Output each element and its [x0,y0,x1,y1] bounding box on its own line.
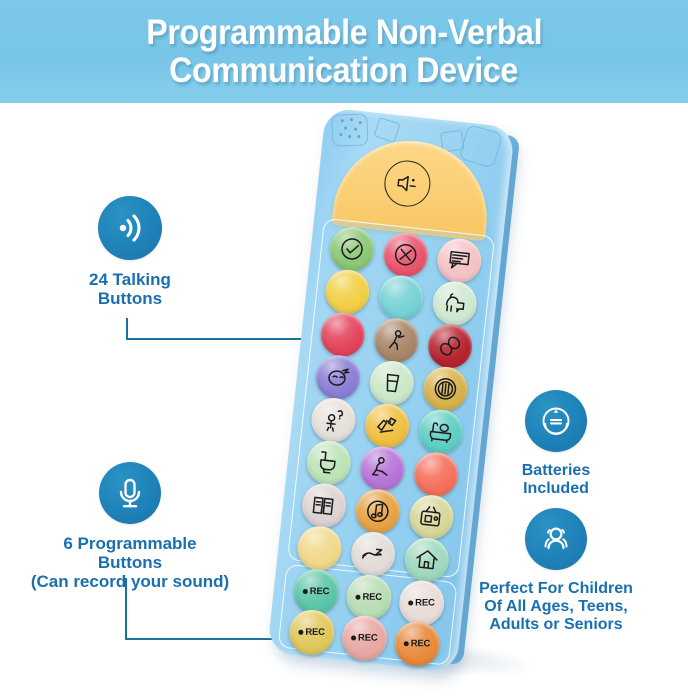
record-dot-icon [299,630,304,635]
talking-button[interactable] [435,236,483,284]
record-button-label: REC [310,586,330,597]
record-button-label: REC [411,638,431,649]
open-book-icon [309,490,340,521]
header-banner: Programmable Non-Verbal Communication De… [0,0,688,103]
callout-programmable-buttons: 6 Programmable Buttons (Can record your … [10,462,250,591]
callout-audience-line-1: Perfect For Children [479,580,633,597]
talking-button[interactable] [363,401,411,449]
callout-programmable-label: 6 Programmable Buttons (Can record your … [31,534,229,591]
talking-button[interactable] [358,444,406,492]
drinking-glass-icon [376,367,407,398]
connector-horizontal-segment [126,338,308,340]
speaker-volume-icon [393,171,421,196]
talking-button[interactable] [328,224,376,272]
callout-audience-line-3: Adults or Seniors [489,616,622,633]
celebration-icon [372,410,403,441]
title-line-2: Communication Device [170,52,519,90]
talking-button[interactable] [349,529,397,577]
bandage-icon [435,330,466,361]
callout-batteries-included: Batteries Included [492,390,620,498]
microphone-icon [99,462,161,524]
group-of-people-icon [525,508,587,570]
record-dot-icon [356,595,361,600]
connector-vertical-segment [126,318,128,340]
talking-button[interactable] [300,481,348,529]
talking-button[interactable] [295,523,343,571]
star-decoration [331,113,368,146]
record-label-wrap: REC [408,598,435,609]
record-button[interactable]: REC [397,578,447,628]
sleeping-face-icon [323,361,354,392]
person-sitting-icon [367,453,398,484]
sound-waves-icon [98,196,162,260]
record-button[interactable]: REC [392,619,442,669]
record-button[interactable]: REC [340,613,390,663]
talking-button[interactable] [417,407,465,455]
connector-line-talking [126,318,308,340]
record-button[interactable]: REC [291,567,341,617]
music-note-icon [362,495,393,526]
talking-button[interactable] [421,364,469,412]
talking-person-icon [439,287,470,318]
talking-button[interactable] [372,316,420,364]
talking-button[interactable] [314,352,362,400]
talking-button[interactable] [309,395,357,443]
cross-x-icon [390,239,421,270]
speech-card-icon [444,245,475,276]
record-label-wrap: REC [299,627,326,638]
callout-batteries-line-2: Included [523,480,589,497]
callout-programmable-line-2: Buttons [98,553,162,572]
record-label-wrap: REC [351,633,378,644]
toilet-icon [313,447,344,478]
record-dot-icon [408,601,413,606]
callout-audience-label: Perfect For Children Of All Ages, Teens,… [479,580,633,634]
person-question-icon [318,404,349,435]
record-button[interactable]: REC [287,608,337,658]
talking-button[interactable] [381,230,429,278]
callout-programmable-line-3: (Can record your sound) [31,572,229,591]
television-icon [416,501,447,532]
talking-button[interactable] [431,279,479,327]
battery-coin-cell-icon [525,390,587,452]
talking-button[interactable] [377,273,425,321]
infographic-canvas: Programmable Non-Verbal Communication De… [0,0,688,696]
talking-button[interactable] [412,450,460,498]
talking-button[interactable] [305,438,353,486]
record-button-label: REC [415,598,435,609]
talking-button[interactable] [407,492,455,540]
record-button[interactable]: REC [344,573,394,623]
plate-food-icon [430,373,461,404]
bathtub-icon [425,416,456,447]
record-button-label: REC [363,592,383,603]
callout-batteries-label: Batteries Included [522,462,590,498]
sleep-zzz-icon [358,538,389,569]
record-button-label: REC [358,633,378,644]
callout-talking-label: 24 Talking Buttons [89,270,171,308]
talking-button[interactable] [368,358,416,406]
talking-button[interactable] [426,321,474,369]
callout-talking-line-2: Buttons [98,289,162,308]
record-label-wrap: REC [356,592,383,603]
title-line-1: Programmable Non-Verbal [146,14,542,52]
record-label-wrap: REC [404,638,431,649]
callout-audience: Perfect For Children Of All Ages, Teens,… [466,508,646,634]
callout-batteries-line-1: Batteries [522,462,590,479]
record-buttons-grid: RECRECRECRECRECREC [283,568,451,667]
callout-audience-line-2: Of All Ages, Teens, [484,598,627,615]
talking-button[interactable] [403,535,451,583]
record-label-wrap: REC [303,586,330,597]
talking-button[interactable] [319,310,367,358]
callout-programmable-line-1: 6 Programmable [63,534,196,553]
callout-talking-line-1: 24 Talking [89,270,171,289]
talking-button[interactable] [323,267,371,315]
talking-button[interactable] [354,487,402,535]
callout-talking-buttons: 24 Talking Buttons [62,196,198,308]
check-mark-icon [337,233,368,264]
person-walking-icon [381,324,412,355]
record-dot-icon [404,641,409,646]
home-icon [411,544,442,575]
record-dot-icon [351,636,356,641]
record-button-label: REC [306,627,326,638]
record-dot-icon [303,589,308,594]
